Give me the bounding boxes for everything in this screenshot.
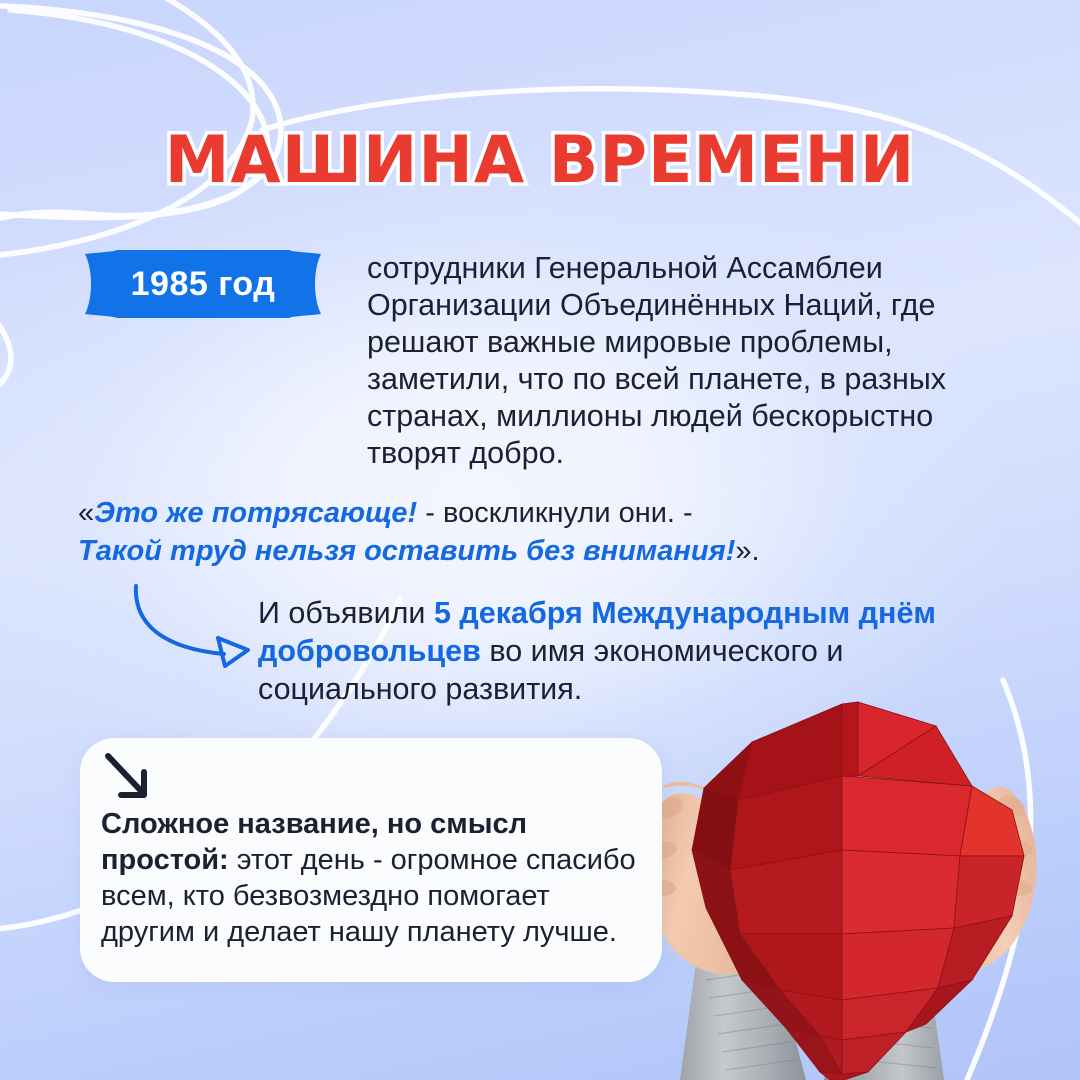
paragraph-two-lead: И объявили [258,596,434,630]
quote-middle: - воскликнули они. - [417,497,692,529]
hands-heart-photo [620,680,1080,1080]
quote-block: «Это же потрясающе! - воскликнули они. -… [78,494,1008,570]
curved-arrow-icon [120,578,270,668]
year-badge: 1985 год [77,248,329,320]
year-badge-label: 1985 год [77,248,329,320]
diagonal-arrow-icon [102,750,162,808]
info-card: Сложное название, но смысл простой: этот… [80,738,662,982]
quote-emphasis-one: Это же потрясающе! [94,497,417,529]
paragraph-one: сотрудники Генеральной Ассамблеи Организ… [367,250,1007,472]
quote-emphasis-two: Такой труд нельзя оставить без внимания! [78,535,735,567]
poster: МАШИНА ВРЕМЕНИ 1985 год сотрудники Генер… [0,0,1080,1080]
info-card-text: Сложное название, но смысл простой: этот… [101,806,651,950]
quote-open: « [78,497,94,529]
page-title: МАШИНА ВРЕМЕНИ [0,128,1080,193]
quote-close: ». [735,535,759,567]
